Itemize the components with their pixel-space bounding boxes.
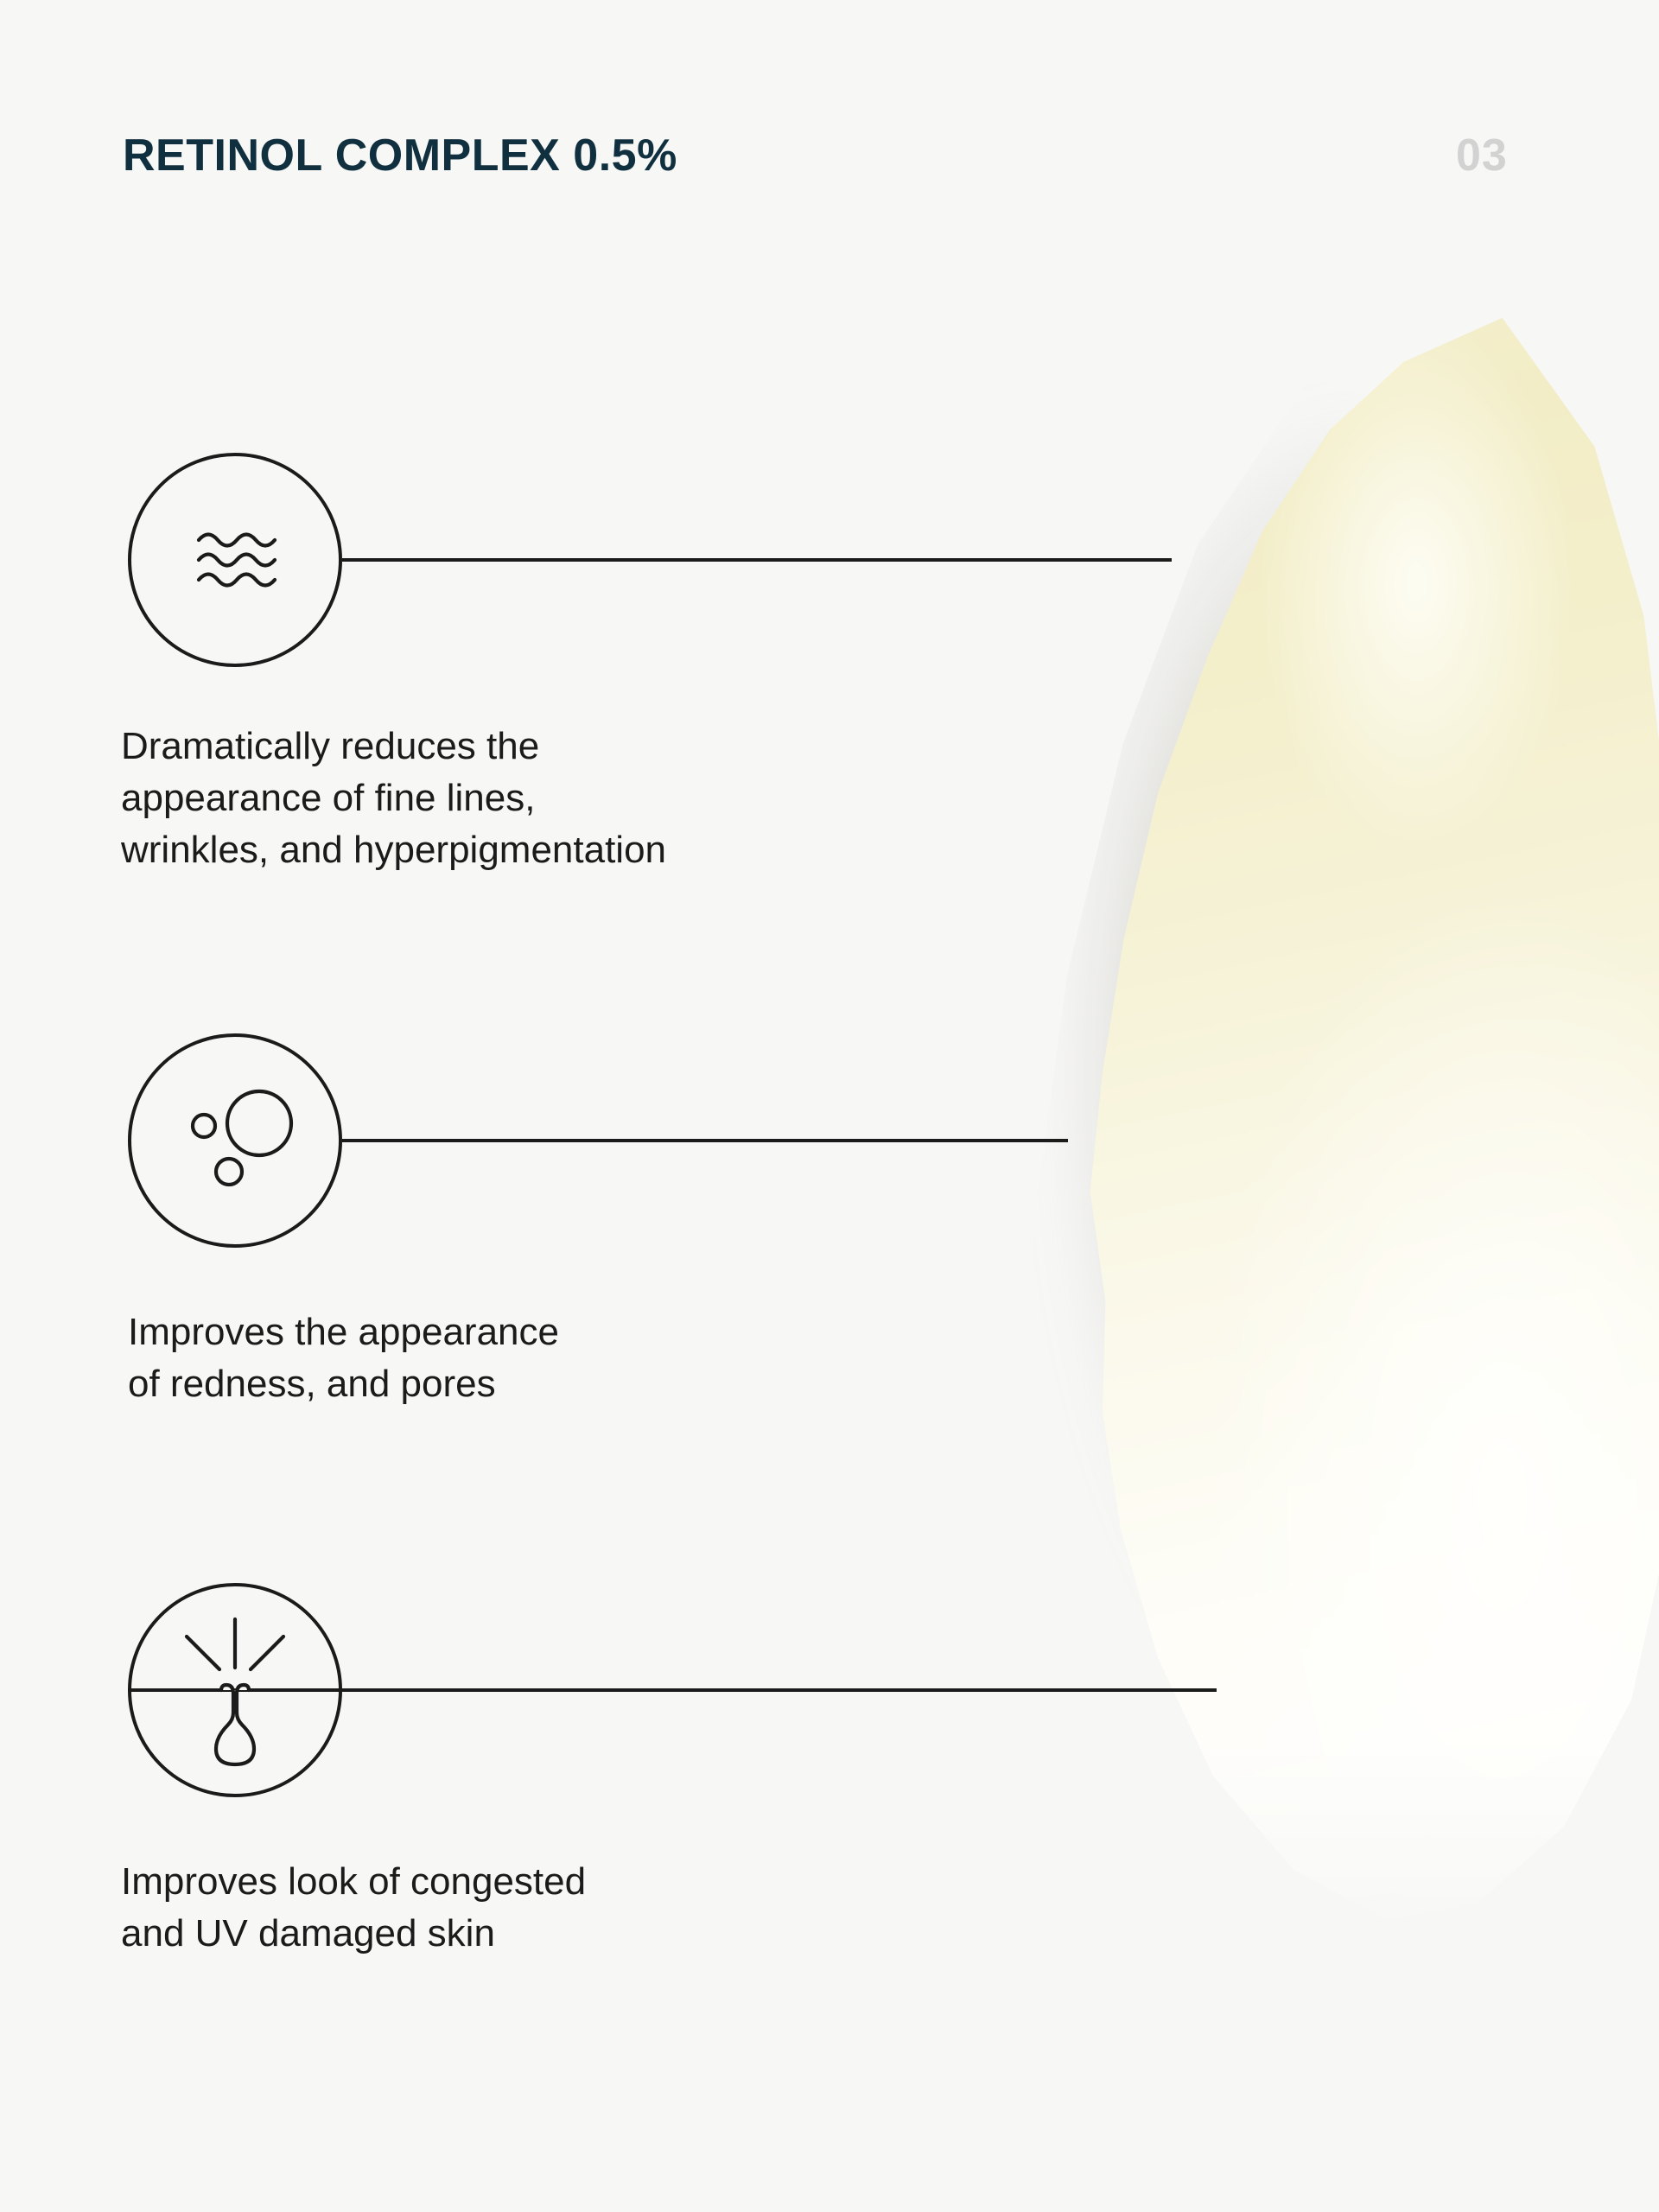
product-cream-swatch-image	[976, 311, 1659, 2039]
cream-swatch-shadow	[1011, 346, 1633, 2005]
wrinkles-waves-icon	[128, 453, 342, 667]
congested-follicle-icon	[128, 1583, 342, 1797]
connector-line-2	[342, 1139, 1068, 1142]
benefit-text-3: Improves look of congested and UV damage…	[121, 1856, 586, 1960]
page-number: 03	[1456, 130, 1508, 181]
header: RETINOL COMPLEX 0.5% 03	[0, 0, 1659, 242]
page-title: RETINOL COMPLEX 0.5%	[123, 130, 677, 181]
cream-swatch-edge-highlight	[1059, 311, 1659, 2005]
cream-swatch-body	[1059, 311, 1659, 2005]
cream-swatch-bottom-fade	[976, 1737, 1659, 2048]
pores-circles-icon	[128, 1033, 342, 1248]
benefit-text-1: Dramatically reduces the appearance of f…	[121, 721, 666, 875]
slide-canvas: RETINOL COMPLEX 0.5% 03 Dramatically red…	[0, 0, 1659, 2212]
connector-line-1	[342, 558, 1172, 562]
benefit-text-2: Improves the appearance of redness, and …	[128, 1306, 559, 1410]
